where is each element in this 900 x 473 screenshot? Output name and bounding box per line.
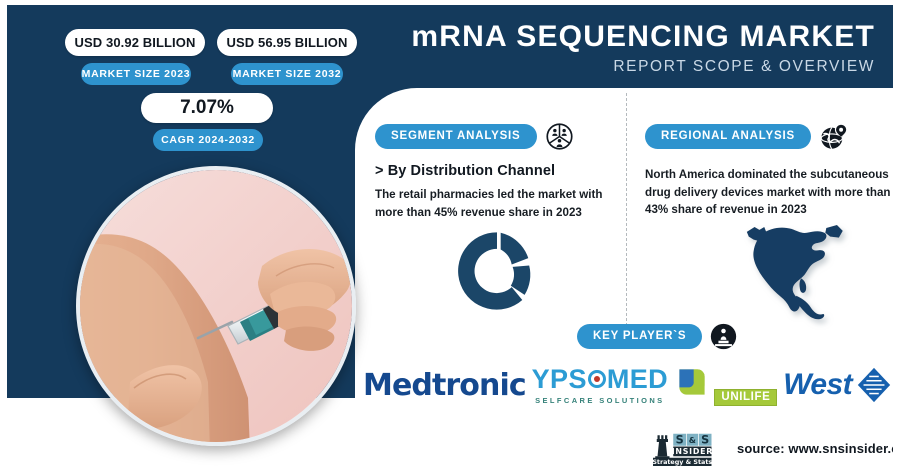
- logo-unilife: UNILIFE: [674, 364, 777, 406]
- logo-ypsomed-text-before: YPS: [532, 366, 587, 393]
- stat-label-cagr: CAGR 2024-2032: [153, 129, 263, 151]
- infographic-root: mRNA SEQUENCING MARKET REPORT SCOPE & OV…: [0, 0, 900, 473]
- stat-value-market-size-2032: USD 56.95 BILLION: [217, 29, 357, 56]
- person-podium-icon: [710, 323, 737, 350]
- svg-text:&: &: [689, 435, 696, 445]
- stat-value-market-size-2023: USD 30.92 BILLION: [65, 29, 205, 56]
- source-row: S & S INSIDER Strategy & Stats source: w…: [650, 429, 893, 467]
- logo-ypsomed-o-mark: [588, 370, 606, 388]
- stat-pill-group: USD 30.92 BILLION MARKET SIZE 2023 USD 5…: [7, 5, 355, 165]
- logo-ypsomed: YPS MED SELFCARE SOLUTIONS: [532, 366, 668, 405]
- page-title: mRNA SEQUENCING MARKET REPORT SCOPE & OV…: [411, 21, 875, 76]
- key-players-badge: KEY PLAYER`S: [577, 324, 702, 349]
- svg-text:S: S: [676, 434, 684, 447]
- north-america-map: [741, 218, 867, 330]
- logo-ypsomed-tagline: SELFCARE SOLUTIONS: [532, 397, 668, 405]
- logo-unilife-wordmark: UNILIFE: [714, 389, 777, 406]
- regional-analysis-badge: REGIONAL ANALYSIS: [645, 124, 811, 149]
- donut-svg: [451, 219, 543, 323]
- panel-divider: [626, 93, 627, 331]
- title-subtitle: REPORT SCOPE & OVERVIEW: [411, 58, 875, 76]
- regional-analysis-section: REGIONAL ANALYSIS North America dominate…: [645, 123, 893, 219]
- distribution-channel-donut-chart: [451, 219, 543, 323]
- stat-label-market-size-2023: MARKET SIZE 2023: [81, 63, 191, 85]
- stat-value-cagr: 7.07%: [141, 93, 273, 123]
- key-player-logos: Medtronic YPS MED SELFCARE SOLUTIONS UNI…: [363, 357, 893, 413]
- navy-background: mRNA SEQUENCING MARKET REPORT SCOPE & OV…: [7, 5, 893, 468]
- segment-pie-people-icon: [546, 123, 573, 150]
- segment-analysis-badge: SEGMENT ANALYSIS: [375, 124, 537, 149]
- svg-text:S: S: [701, 434, 709, 447]
- syringe-injection-photo: [76, 166, 356, 446]
- logo-ypsomed-text-after: MED: [607, 366, 668, 393]
- regional-badge-row: REGIONAL ANALYSIS: [645, 123, 893, 150]
- logo-ypsomed-wordmark: YPS MED: [532, 366, 668, 393]
- logo-medtronic: Medtronic: [363, 368, 526, 403]
- logo-west: West: [783, 366, 893, 404]
- photo-illustration: [80, 170, 352, 442]
- west-diamond-icon: [855, 366, 893, 404]
- segment-heading: > By Distribution Channel: [375, 163, 611, 179]
- sns-insider-logo: S & S INSIDER Strategy & Stats: [650, 429, 728, 467]
- source-url-text: source: www.snsinsider.com: [737, 441, 893, 456]
- key-players-badge-row: KEY PLAYER`S: [577, 323, 737, 350]
- svg-text:INSIDER: INSIDER: [672, 447, 713, 456]
- north-america-map-svg: [741, 218, 867, 330]
- globe-pin-icon: [820, 123, 847, 150]
- segment-badge-row: SEGMENT ANALYSIS: [375, 123, 611, 150]
- segment-body-text: The retail pharmacies led the market wit…: [375, 186, 611, 221]
- segment-analysis-section: SEGMENT ANALYSIS > By Distribution Chann…: [375, 123, 611, 221]
- title-main: mRNA SEQUENCING MARKET: [411, 21, 875, 53]
- unilife-mark-icon: [674, 364, 710, 400]
- regional-body-text: North America dominated the subcutaneous…: [645, 166, 893, 219]
- svg-text:Strategy & Stats: Strategy & Stats: [652, 458, 712, 466]
- stat-label-market-size-2032: MARKET SIZE 2032: [231, 63, 343, 85]
- logo-west-wordmark: West: [783, 368, 852, 402]
